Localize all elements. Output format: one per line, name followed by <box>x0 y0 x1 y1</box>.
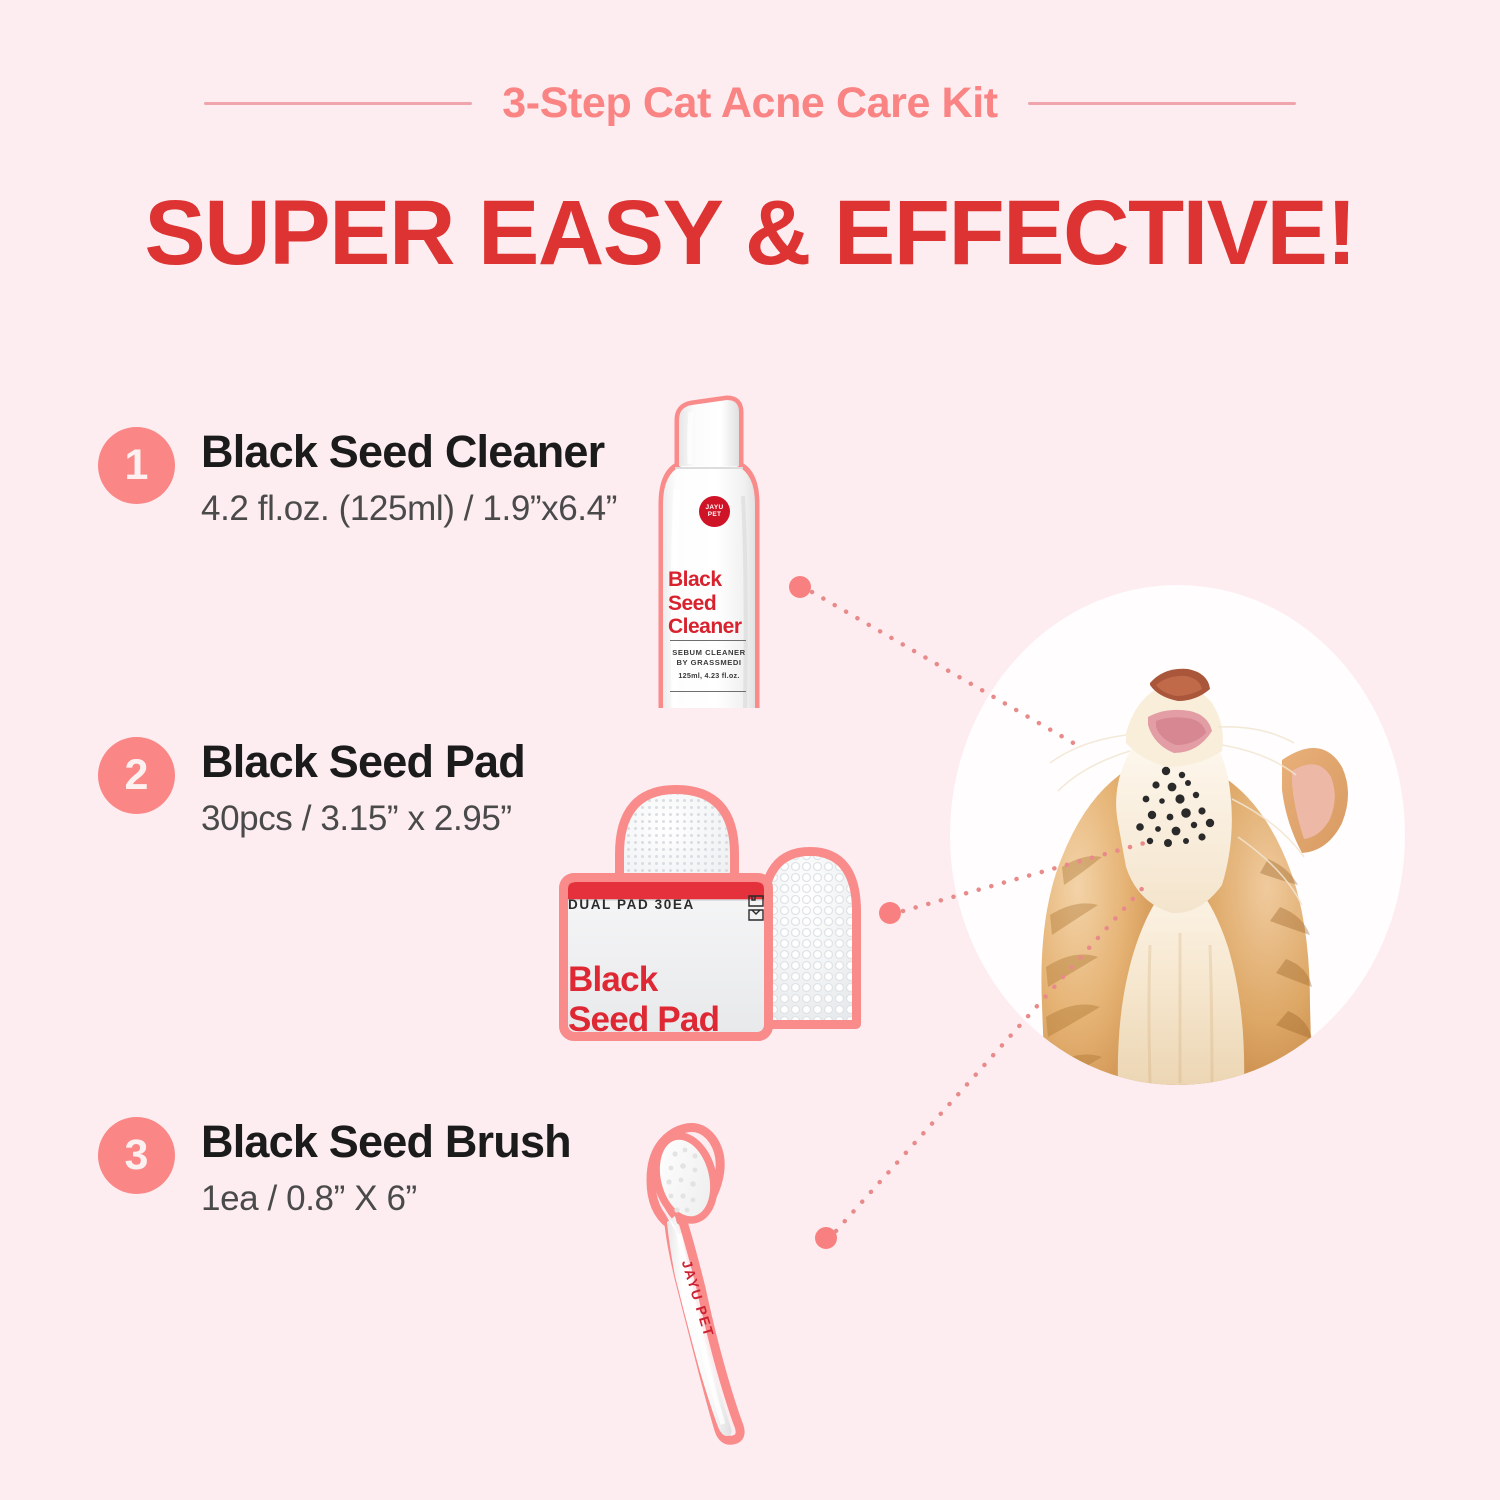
step-row-3: 3 Black Seed Brush 1ea / 0.8” X 6” <box>98 1113 571 1219</box>
bottle-rule-bottom <box>670 691 746 692</box>
step-spec-3: 1ea / 0.8” X 6” <box>201 1179 571 1219</box>
step-spec-2: 30pcs / 3.15” x 2.95” <box>201 799 525 839</box>
step-text-1: Black Seed Cleaner 4.2 fl.oz. (125ml) / … <box>201 423 617 529</box>
step-text-2: Black Seed Pad 30pcs / 3.15” x 2.95” <box>201 733 525 839</box>
pad-box-label: DUAL PAD 30EA Black Seed Pad <box>568 897 773 1039</box>
connector-dot-brush <box>815 1227 837 1249</box>
eyebrow-rule-left <box>204 102 472 105</box>
care-symbol-icons <box>746 894 766 924</box>
product-pad-group: DUAL PAD 30EA Black Seed Pad <box>548 762 888 1052</box>
step-spec-1: 4.2 fl.oz. (125ml) / 1.9”x6.4” <box>201 489 617 529</box>
bottle-label: JAYU PET Black Seed Cleaner SEBUM CLEANE… <box>645 378 773 708</box>
bottle-fine-line-1: SEBUM CLEANER <box>665 648 753 658</box>
step-title-3: Black Seed Brush <box>201 1117 571 1167</box>
jayu-pet-logo-icon: JAYU PET <box>699 496 730 527</box>
bottle-fine-line-3: 125ml, 4.23 fl.oz. <box>665 671 753 681</box>
bottle-product-name: Black Seed Cleaner <box>668 568 760 639</box>
bottle-name-line-1: Black <box>668 568 760 592</box>
product-cleaner-bottle: JAYU PET Black Seed Cleaner SEBUM CLEANE… <box>645 378 773 708</box>
infographic-canvas: 3-Step Cat Acne Care Kit SUPER EASY & EF… <box>0 0 1500 1500</box>
pad-top-label: DUAL PAD 30EA <box>568 897 773 912</box>
headline: SUPER EASY & EFFECTIVE! <box>0 181 1500 286</box>
pad-name-line-1: Black <box>568 960 773 1000</box>
eyebrow-row: 3-Step Cat Acne Care Kit <box>0 72 1500 134</box>
step-title-1: Black Seed Cleaner <box>201 427 617 477</box>
step-text-3: Black Seed Brush 1ea / 0.8” X 6” <box>201 1113 571 1219</box>
step-row-2: 2 Black Seed Pad 30pcs / 3.15” x 2.95” <box>98 733 525 839</box>
eyebrow-rule-right <box>1028 102 1296 105</box>
eyebrow-title: 3-Step Cat Acne Care Kit <box>502 79 997 128</box>
bottle-rule-top <box>670 640 746 641</box>
bottle-fine-line-2: BY GRASSMEDI <box>665 658 753 668</box>
step-badge-1: 1 <box>98 427 175 504</box>
logo-line-2: PET <box>708 512 722 519</box>
bottle-name-line-2: Seed <box>668 592 760 616</box>
product-brush <box>645 1118 780 1448</box>
step-badge-2: 2 <box>98 737 175 814</box>
bottle-name-line-3: Cleaner <box>668 615 760 639</box>
pad-name-line-2: Seed Pad <box>568 1000 773 1040</box>
step-badge-3: 3 <box>98 1117 175 1194</box>
recycle-box-icon <box>749 896 763 906</box>
brush-shape <box>645 1118 780 1448</box>
pad-product-name: Black Seed Pad <box>568 960 773 1039</box>
step-row-1: 1 Black Seed Cleaner 4.2 fl.oz. (125ml) … <box>98 423 617 529</box>
step-title-2: Black Seed Pad <box>201 737 525 787</box>
cat-photo-circle <box>950 585 1405 1085</box>
cat-illustration <box>950 585 1405 1085</box>
dispose-box-icon <box>749 910 763 920</box>
bottle-fine-print: SEBUM CLEANER BY GRASSMEDI 125ml, 4.23 f… <box>665 648 753 681</box>
connector-dot-cleaner <box>789 576 811 598</box>
